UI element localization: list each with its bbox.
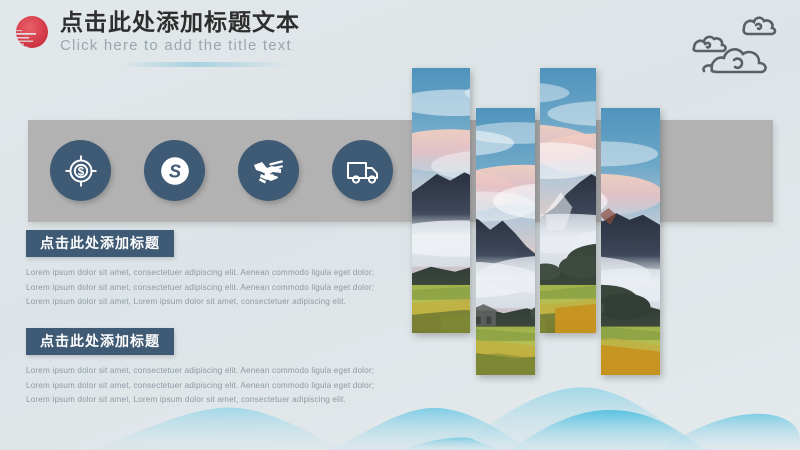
photo-strip-4-image (601, 108, 660, 375)
red-sun-ink-logo (10, 11, 54, 55)
svg-text:S: S (168, 161, 180, 181)
photo-strip-1-image (412, 68, 470, 333)
content-block-1-body: Lorem ipsum dolor sit amet, consectetuer… (26, 266, 391, 310)
skype-s-icon: S (158, 154, 192, 188)
feature-icon-row: $ S (50, 140, 393, 201)
icon-button-delivery-truck[interactable] (332, 140, 393, 201)
photo-strip-1[interactable] (412, 68, 470, 333)
slide-header: 点击此处添加标题文本 Click here to add the title t… (0, 0, 800, 70)
icon-button-skype[interactable]: S (144, 140, 205, 201)
target-dollar-icon: $ (64, 154, 98, 188)
content-block-2-body: Lorem ipsum dolor sit amet, consectetuer… (26, 364, 391, 408)
delivery-truck-icon (345, 156, 381, 186)
header-underline-accent (120, 62, 290, 67)
photo-strip-2-image (476, 108, 535, 375)
content-block-1-heading: 点击此处添加标题 (26, 230, 174, 257)
icon-button-target-dollar[interactable]: $ (50, 140, 111, 201)
slide-canvas: 点击此处添加标题文本 Click here to add the title t… (0, 0, 800, 450)
photo-strip-4[interactable] (601, 108, 660, 375)
content-block-2: 点击此处添加标题 Lorem ipsum dolor sit amet, con… (26, 328, 391, 408)
svg-text:$: $ (77, 166, 84, 178)
page-title-cn: 点击此处添加标题文本 (60, 8, 300, 36)
photo-strip-2[interactable] (476, 108, 535, 375)
photo-strip-3-image (540, 68, 596, 333)
content-block-1: 点击此处添加标题 Lorem ipsum dolor sit amet, con… (26, 230, 391, 310)
handshake-icon (251, 154, 287, 188)
photo-strip-3[interactable] (540, 68, 596, 333)
page-title-en: Click here to add the title text (60, 37, 300, 55)
content-block-2-heading: 点击此处添加标题 (26, 328, 174, 355)
title-group: 点击此处添加标题文本 Click here to add the title t… (60, 8, 300, 55)
icon-button-handshake[interactable] (238, 140, 299, 201)
